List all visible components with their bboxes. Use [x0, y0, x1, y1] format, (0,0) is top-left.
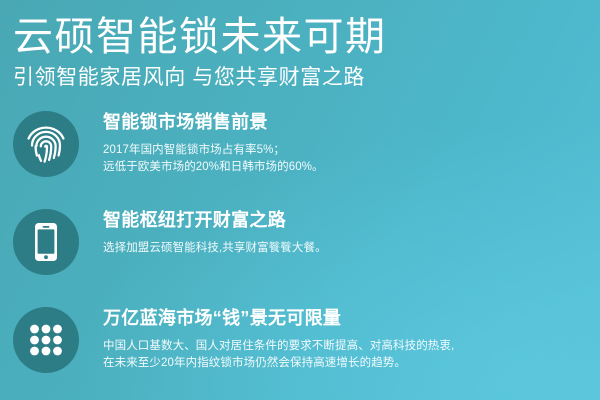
icon-badge [13, 111, 79, 177]
feature-body-line: 远低于欧美市场的20%和日韩市场的60%。 [103, 159, 324, 176]
page-title: 云硕智能锁未来可期 [13, 12, 600, 62]
promo-poster: 云硕智能锁未来可期 引领智能家居风向 与您共享财富之路 [0, 0, 600, 400]
icon-badge [13, 307, 79, 373]
feature-text: 万亿蓝海市场“钱”景无可限量 中国人口基数大、国人对居住条件的要求不断提高、对高… [103, 303, 454, 372]
smartphone-icon [24, 220, 68, 264]
feature-block-smart-hub: 智能枢纽打开财富之路 选择加盟云硕智能科技,共享财富餮餮大餐。 [0, 205, 600, 289]
feature-title: 万亿蓝海市场“钱”景无可限量 [103, 305, 454, 331]
feature-text: 智能锁市场销售前景 2017年国内智能锁市场占有率5%； 远低于欧美市场的20%… [103, 107, 324, 176]
feature-text: 智能枢纽打开财富之路 选择加盟云硕智能科技,共享财富餮餮大餐。 [103, 205, 327, 257]
feature-title: 智能锁市场销售前景 [103, 109, 324, 135]
page-subtitle: 引领智能家居风向 与您共享财富之路 [13, 63, 600, 93]
feature-title: 智能枢纽打开财富之路 [103, 207, 327, 233]
feature-body-line: 在未来至少20年内指纹锁市场仍然会保持高速增长的趋势。 [103, 355, 454, 372]
feature-block-blue-ocean: 万亿蓝海市场“钱”景无可限量 中国人口基数大、国人对居住条件的要求不断提高、对高… [0, 303, 600, 387]
feature-block-list: 智能锁市场销售前景 2017年国内智能锁市场占有率5%； 远低于欧美市场的20%… [0, 107, 600, 387]
fingerprint-icon [24, 122, 68, 166]
poster-header: 云硕智能锁未来可期 引领智能家居风向 与您共享财富之路 [0, 0, 600, 93]
feature-body: 中国人口基数大、国人对居住条件的要求不断提高、对高科技的热衷, 在未来至少20年… [103, 338, 454, 372]
feature-body-line: 2017年国内智能锁市场占有率5%； [103, 142, 324, 159]
icon-badge [13, 209, 79, 275]
feature-body: 2017年国内智能锁市场占有率5%； 远低于欧美市场的20%和日韩市场的60%。 [103, 142, 324, 176]
keypad-icon [24, 318, 68, 362]
feature-body: 选择加盟云硕智能科技,共享财富餮餮大餐。 [103, 240, 327, 257]
feature-body-line: 中国人口基数大、国人对居住条件的要求不断提高、对高科技的热衷, [103, 338, 454, 355]
feature-body-line: 选择加盟云硕智能科技,共享财富餮餮大餐。 [103, 240, 327, 257]
feature-block-market-outlook: 智能锁市场销售前景 2017年国内智能锁市场占有率5%； 远低于欧美市场的20%… [0, 107, 600, 191]
